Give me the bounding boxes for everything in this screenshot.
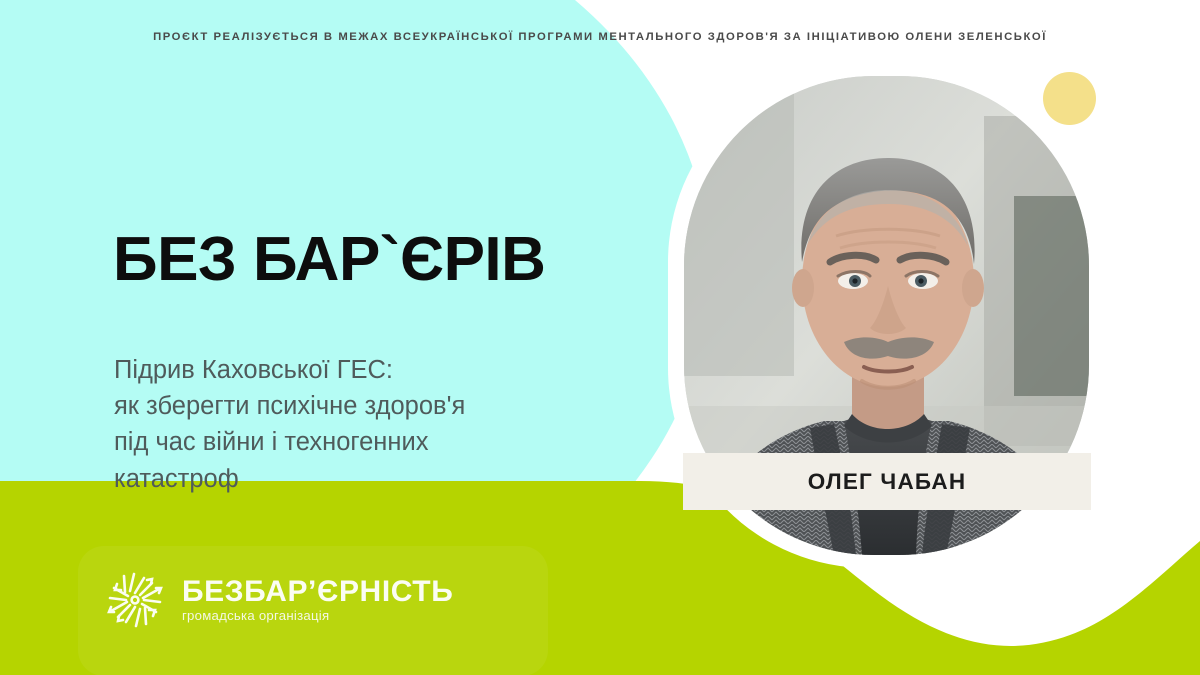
subtitle-line-3: під час війни і техногенних [114, 424, 584, 460]
logo-text-block: БЕЗБАР’ЄРНІСТЬ громадська організація [182, 577, 453, 622]
logo-subtitle: громадська організація [182, 609, 453, 622]
episode-subtitle: Підрив Каховської ГЕС: як зберегти психі… [114, 352, 584, 497]
subtitle-line-1: Підрив Каховської ГЕС: [114, 352, 584, 388]
presentation-slide: ПРОЄКТ РЕАЛІЗУЄТЬСЯ В МЕЖАХ ВСЕУКРАЇНСЬК… [0, 0, 1200, 675]
guest-name-badge: ОЛЕГ ЧАБАН [683, 453, 1091, 510]
logo-name: БЕЗБАР’ЄРНІСТЬ [182, 577, 453, 607]
subtitle-line-4: катастроф [114, 461, 584, 497]
program-attribution-note: ПРОЄКТ РЕАЛІЗУЄТЬСЯ В МЕЖАХ ВСЕУКРАЇНСЬК… [0, 31, 1200, 43]
organization-logo[interactable]: БЕЗБАР’ЄРНІСТЬ громадська організація [104, 566, 453, 634]
radial-starburst-svg [104, 566, 166, 634]
subtitle-line-2: як зберегти психічне здоров'я [114, 388, 584, 424]
yellow-circle-decoration [1043, 72, 1096, 125]
guest-name-label: ОЛЕГ ЧАБАН [808, 469, 967, 495]
page-title: БЕЗ БАР`ЄРІВ [113, 229, 545, 291]
radial-starburst-icon [104, 566, 166, 634]
